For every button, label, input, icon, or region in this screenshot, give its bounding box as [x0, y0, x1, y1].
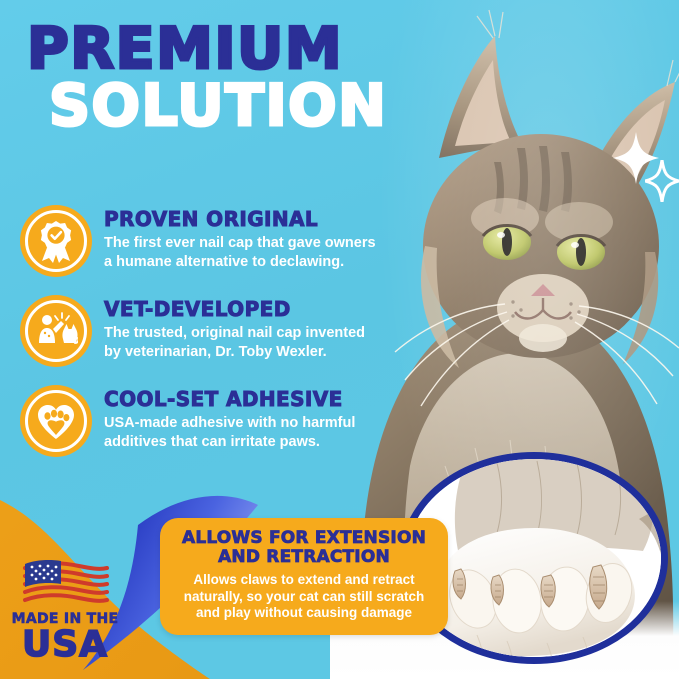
product-infographic: PREMIUM SOLUTION PROVEN ORIGINAL The fir… — [0, 0, 679, 679]
cat-eye-right — [557, 234, 605, 270]
feature-body: USA-made adhesive with no harmful additi… — [104, 414, 382, 451]
headline-line-2: SOLUTION — [49, 77, 387, 135]
feature-list: PROVEN ORIGINAL The first ever nail cap … — [20, 205, 400, 475]
sparkle-small-icon — [645, 160, 679, 202]
feature-body: The first ever nail cap that gave owners… — [104, 234, 382, 271]
callout-heading-line-1: ALLOWS FOR EXTENSION — [170, 529, 438, 548]
feature-heading: COOL-SET ADHESIVE — [104, 387, 382, 411]
usa-flag-icon — [21, 558, 109, 610]
award-ribbon-icon — [20, 205, 92, 277]
vet-highfive-cat-icon — [20, 295, 92, 367]
usa-badge-line-2: USA — [10, 627, 120, 663]
callout-body: Allows claws to extend and retract natur… — [170, 572, 438, 621]
headline-line-1: PREMIUM — [27, 22, 387, 77]
headline-block: PREMIUM SOLUTION — [27, 22, 387, 135]
feature-item-proven-original: PROVEN ORIGINAL The first ever nail cap … — [20, 205, 400, 277]
made-in-usa-badge: MADE IN THE USA — [10, 558, 120, 663]
paw-heart-icon — [20, 385, 92, 457]
feature-item-vet-developed: VET-DEVELOPED The trusted, original nail… — [20, 295, 400, 367]
callout-heading: ALLOWS FOR EXTENSION AND RETRACTION — [170, 529, 438, 566]
cat-eye-left — [483, 224, 531, 260]
feature-body: The trusted, original nail cap invented … — [104, 324, 382, 361]
callout-extension-retraction: ALLOWS FOR EXTENSION AND RETRACTION Allo… — [160, 518, 448, 635]
feature-heading: PROVEN ORIGINAL — [104, 207, 382, 231]
feature-item-cool-set-adhesive: COOL-SET ADHESIVE USA-made adhesive with… — [20, 385, 400, 457]
feature-heading: VET-DEVELOPED — [104, 297, 382, 321]
callout-heading-line-2: AND RETRACTION — [170, 548, 438, 567]
